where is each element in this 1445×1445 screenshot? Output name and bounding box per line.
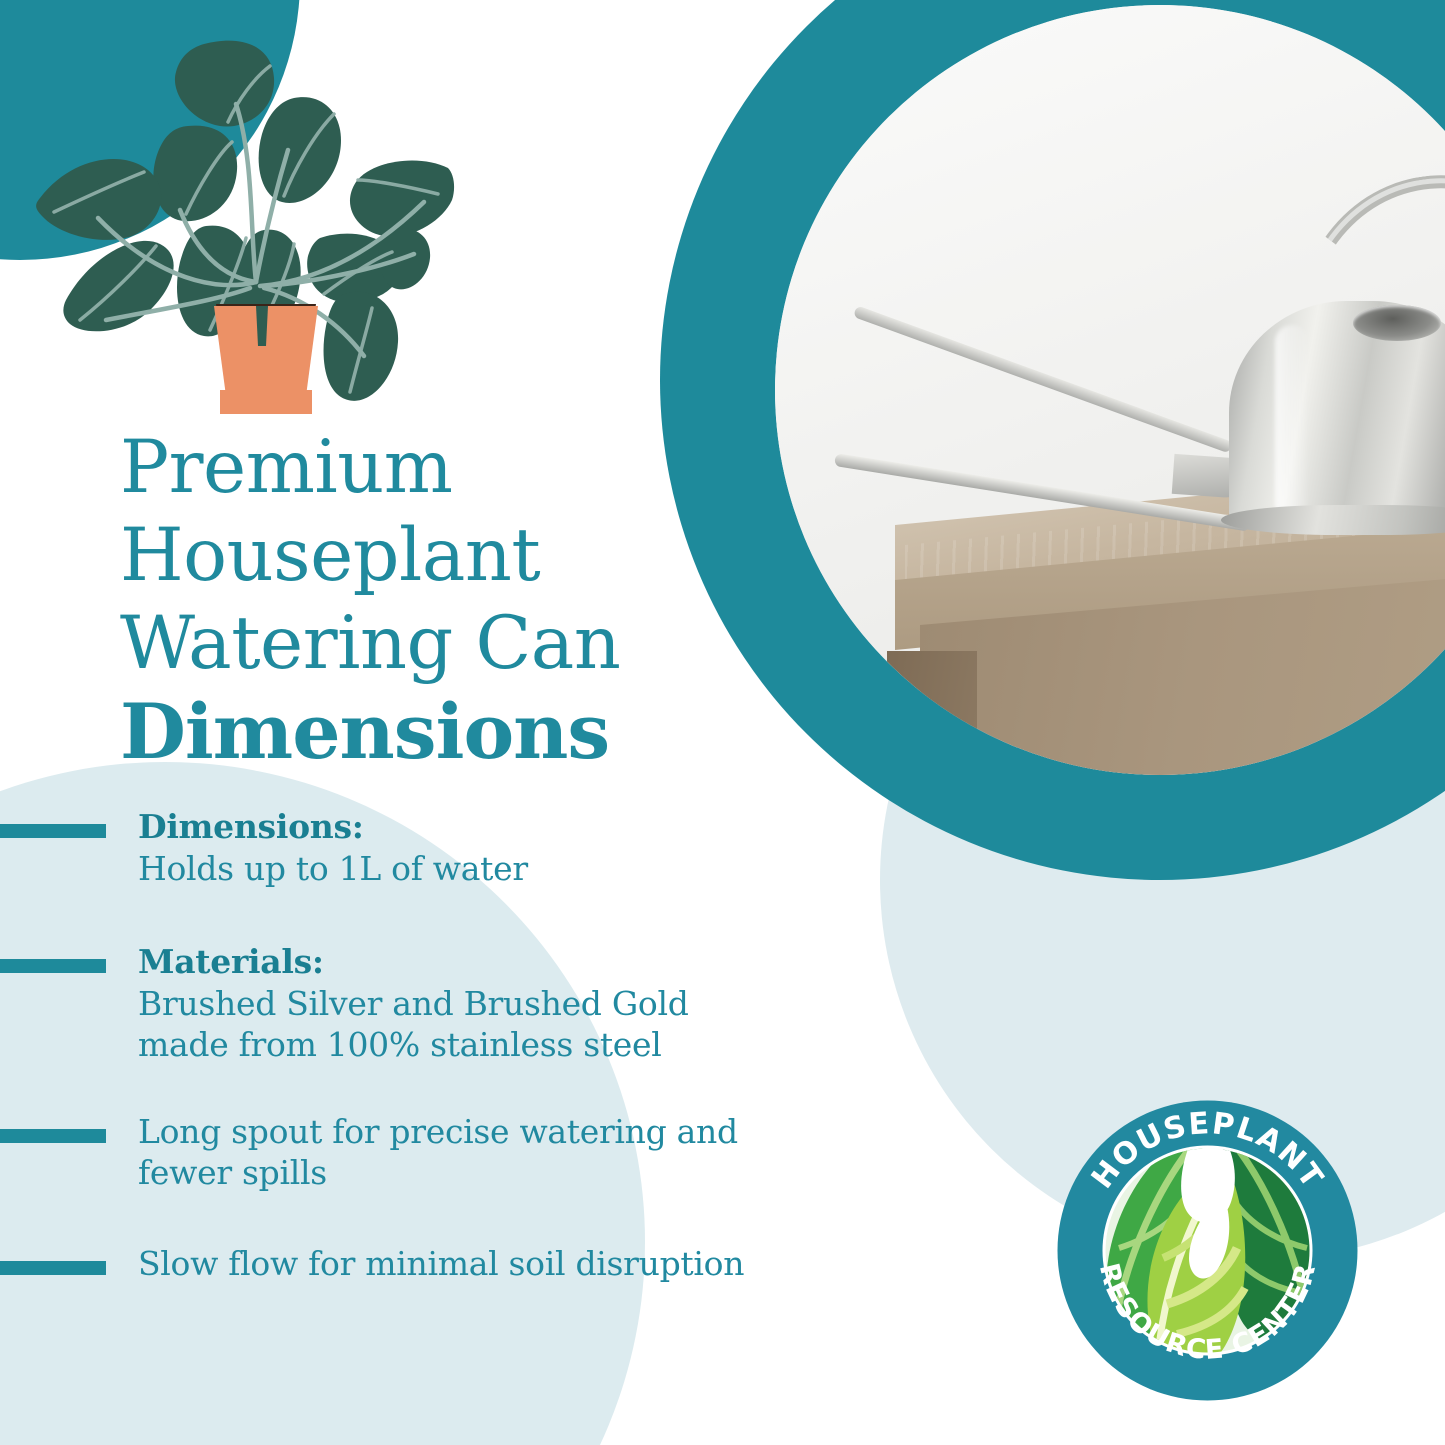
title-line-3: Watering Can	[120, 600, 740, 688]
list-item: Slow flow for minimal soil disruption	[0, 1243, 960, 1284]
bullet-body-line-1: Brushed Silver and Brushed Gold	[138, 983, 689, 1024]
dash-bullet-icon	[0, 1261, 106, 1275]
page-title: Premium Houseplant Watering Can Dimensio…	[120, 424, 740, 776]
watering-can-photo	[775, 5, 1445, 775]
dash-bullet-icon	[0, 959, 106, 973]
dash-bullet-icon	[0, 1129, 106, 1143]
list-item: Materials: Brushed Silver and Brushed Go…	[0, 941, 960, 1065]
title-line-4: Dimensions	[120, 688, 740, 776]
watering-can-highlight	[1275, 325, 1309, 520]
feature-list: Dimensions: Holds up to 1L of water Mate…	[0, 806, 960, 1284]
list-item: Dimensions: Holds up to 1L of water	[0, 806, 960, 889]
bullet-body-line-2: made from 100% stainless steel	[138, 1024, 689, 1065]
list-item: Long spout for precise watering and fewe…	[0, 1111, 960, 1193]
bullet-label: Materials:	[138, 941, 689, 983]
title-line-1: Premium	[120, 424, 740, 512]
infographic-canvas: Premium Houseplant Watering Can Dimensio…	[0, 0, 1445, 1445]
watering-can-base	[1221, 505, 1445, 535]
table-leg	[887, 651, 977, 775]
bullet-body: Holds up to 1L of water	[138, 848, 528, 889]
bullet-body-line-1: Slow flow for minimal soil disruption	[138, 1243, 744, 1284]
dash-bullet-icon	[0, 824, 106, 838]
title-line-2: Houseplant	[120, 512, 740, 600]
bullet-label: Dimensions:	[138, 806, 528, 848]
watering-can-opening	[1353, 305, 1441, 341]
leaf-badge-icon: HOUSEPLANT RESOURCE CENTER	[1055, 1098, 1360, 1403]
potted-plant-icon	[28, 30, 458, 420]
bullet-body-line-1: Long spout for precise watering and	[138, 1111, 738, 1152]
bullet-body-line-2: fewer spills	[138, 1152, 738, 1193]
